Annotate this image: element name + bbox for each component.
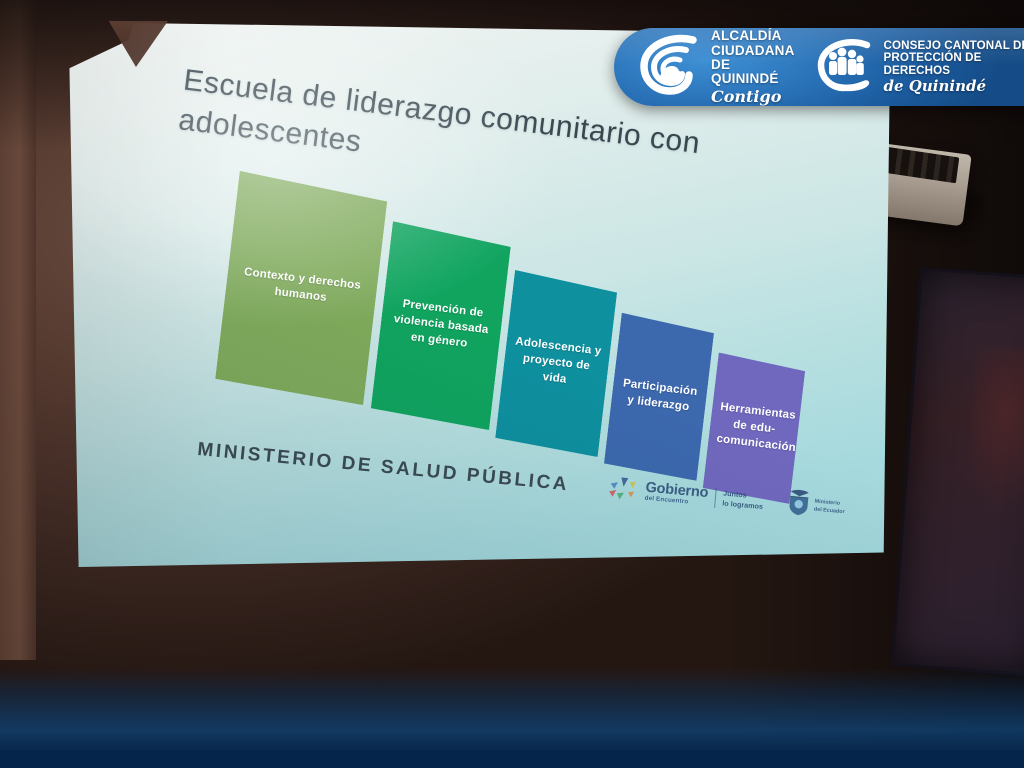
ministry-logo: Ministerio del Ecuador <box>786 487 847 525</box>
arrows-mark-icon <box>607 474 639 505</box>
consejo-wordmark: CONSEJO CANTONAL DE PROTECCIÓN DE DERECH… <box>884 40 1024 95</box>
people-in-hand-icon <box>811 35 875 100</box>
ministry-wordmark: Ministerio del Ecuador <box>814 499 846 517</box>
photo-scene: Escuela de liderazgo comunitario con ado… <box>0 0 1024 768</box>
chevron-block-label: Prevención de violencia basada en género <box>387 296 496 355</box>
gobierno-wordmark: Gobierno del Encuentro <box>644 480 709 507</box>
chevron-block: Prevención de violencia basada en género <box>370 221 512 430</box>
alcaldia-line2: CIUDADANA <box>711 44 795 58</box>
chevron-block-label: Herramientas de edu-comunicación <box>716 400 793 456</box>
wave-spiral-icon <box>636 33 702 100</box>
alcaldia-script: Contigo <box>711 88 795 105</box>
chevron-block-label: Contexto y derechos humanos <box>233 264 370 311</box>
chevron-block-label: Adolescencia y proyecto de vida <box>510 335 603 393</box>
alcaldia-wordmark: ALCALDÍA CIUDADANA DE QUININDÉ Contigo <box>711 29 795 105</box>
consejo-script: de Quinindé <box>884 78 1024 94</box>
chevron-block: Participación y liderazgo <box>603 313 715 481</box>
logo-divider <box>714 487 717 507</box>
header-badge: ALCALDÍA CIUDADANA DE QUININDÉ Contigo <box>614 28 1024 106</box>
chevron-block-label: Participación y liderazgo <box>619 376 700 417</box>
alcaldia-line3: DE QUININDÉ <box>711 58 795 87</box>
ecuador-coat-of-arms-icon <box>786 487 811 522</box>
consejo-line2: PROTECCIÓN DE DERECHOS <box>884 52 1024 77</box>
bottom-bar <box>0 750 1024 768</box>
alcaldia-brand: ALCALDÍA CIUDADANA DE QUININDÉ Contigo <box>636 29 795 105</box>
alcaldia-line1: ALCALDÍA <box>711 29 795 43</box>
ministry-line2: del Ecuador <box>814 506 845 516</box>
chevron-block: Adolescencia y proyecto de vida <box>494 270 618 457</box>
consejo-brand: CONSEJO CANTONAL DE PROTECCIÓN DE DERECH… <box>811 35 1024 100</box>
chevron-block: Contexto y derechos humanos <box>214 171 389 405</box>
gobierno-tagline: Juntos lo logramos <box>722 488 764 511</box>
